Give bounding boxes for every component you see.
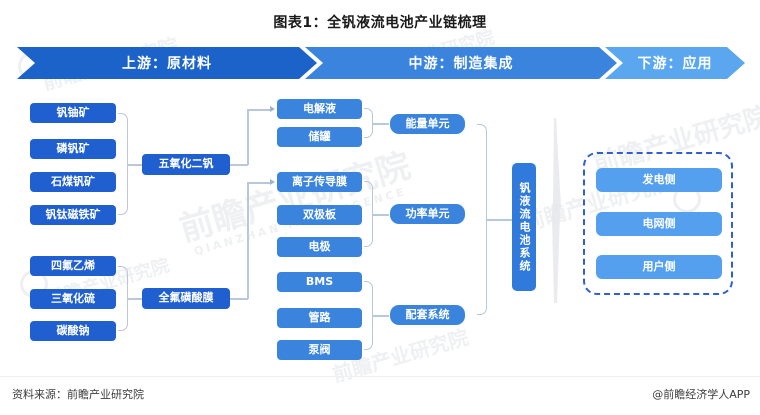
footer-divider: [0, 376, 760, 377]
link-membrane-riser: [247, 182, 249, 299]
node-ore-material[interactable]: 钒钛磁铁矿: [30, 205, 116, 225]
node-power-part[interactable]: 电极: [277, 237, 362, 257]
node-support-part[interactable]: BMS: [277, 272, 362, 292]
connector-chem-to-product: [128, 298, 142, 300]
node-support-part[interactable]: 泵阀: [277, 340, 362, 360]
connector-units-to-system: [487, 219, 512, 221]
banner-label-upstream: 上游：原材料: [122, 53, 212, 73]
footer-credit: @前瞻经济学人APP: [652, 386, 750, 402]
node-support-part[interactable]: 管路: [277, 308, 362, 328]
node-ore-product[interactable]: 五氧化二钒: [142, 154, 230, 175]
value-chain-banner: 上游：原材料 中游：制造集成 下游：应用: [17, 47, 745, 79]
chart-canvas: 前瞻产业研究院 前瞻产业研究院 前瞻产业研究院 QIANZHAN INTELLI…: [0, 0, 760, 415]
bracket-power-group: [364, 181, 373, 247]
node-application[interactable]: 发电侧: [596, 168, 722, 192]
link-membrane-to-ion: [247, 182, 271, 184]
arrow-to-ion-membrane-icon: [270, 179, 275, 185]
link-v2o5-riser: [247, 109, 249, 165]
connector-power-to-unit: [373, 214, 389, 216]
node-chem-product[interactable]: 全氟磺酸膜: [142, 288, 230, 309]
node-chem-material[interactable]: 三氧化硫: [30, 289, 116, 309]
link-v2o5-to-electrolyte: [247, 109, 271, 111]
node-power-part[interactable]: 离子传导膜: [277, 172, 362, 192]
node-energy-part[interactable]: 电解液: [277, 99, 362, 119]
node-application[interactable]: 用户侧: [596, 255, 722, 279]
node-ore-material[interactable]: 石煤钒矿: [30, 172, 116, 192]
page-title: 图表1：全钒液流电池产业链梳理: [0, 12, 760, 32]
node-energy-part[interactable]: 储罐: [277, 127, 362, 147]
node-system[interactable]: 钒液流电池系统: [512, 163, 536, 291]
node-ore-material[interactable]: 钒铀矿: [30, 103, 116, 123]
bracket-ore-group: [118, 113, 128, 215]
node-ore-material[interactable]: 磷钒矿: [30, 139, 116, 159]
node-energy-unit[interactable]: 能量单元: [390, 114, 465, 134]
node-power-part[interactable]: 双极板: [277, 205, 362, 225]
banner-label-midstream: 中游：制造集成: [409, 53, 514, 73]
arrow-to-electrolyte-icon: [270, 106, 275, 112]
link-membrane-out: [230, 298, 248, 300]
banner-label-downstream: 下游：应用: [638, 53, 713, 73]
banner-segment-upstream: 上游：原材料: [17, 47, 317, 79]
banner-segment-downstream: 下游：应用: [605, 47, 745, 79]
node-support-unit[interactable]: 配套系统: [390, 305, 465, 325]
bracket-energy-group: [364, 108, 373, 138]
node-chem-material[interactable]: 碳酸钠: [30, 321, 116, 341]
node-application[interactable]: 电网侧: [596, 212, 722, 236]
footer-source: 资料来源：前瞻产业研究院: [12, 386, 144, 402]
connector-support-to-unit: [373, 315, 389, 317]
bracket-units-group: [477, 124, 487, 315]
section-divider: [548, 118, 561, 303]
connector-ore-to-product: [128, 164, 142, 166]
bracket-chem-group: [118, 266, 128, 331]
bracket-support-group: [364, 281, 373, 350]
link-v2o5-out: [230, 164, 248, 166]
banner-segment-midstream: 中游：制造集成: [305, 47, 617, 79]
node-power-unit[interactable]: 功率单元: [390, 204, 465, 224]
connector-energy-to-unit: [373, 123, 389, 125]
node-chem-material[interactable]: 四氟乙烯: [30, 256, 116, 276]
